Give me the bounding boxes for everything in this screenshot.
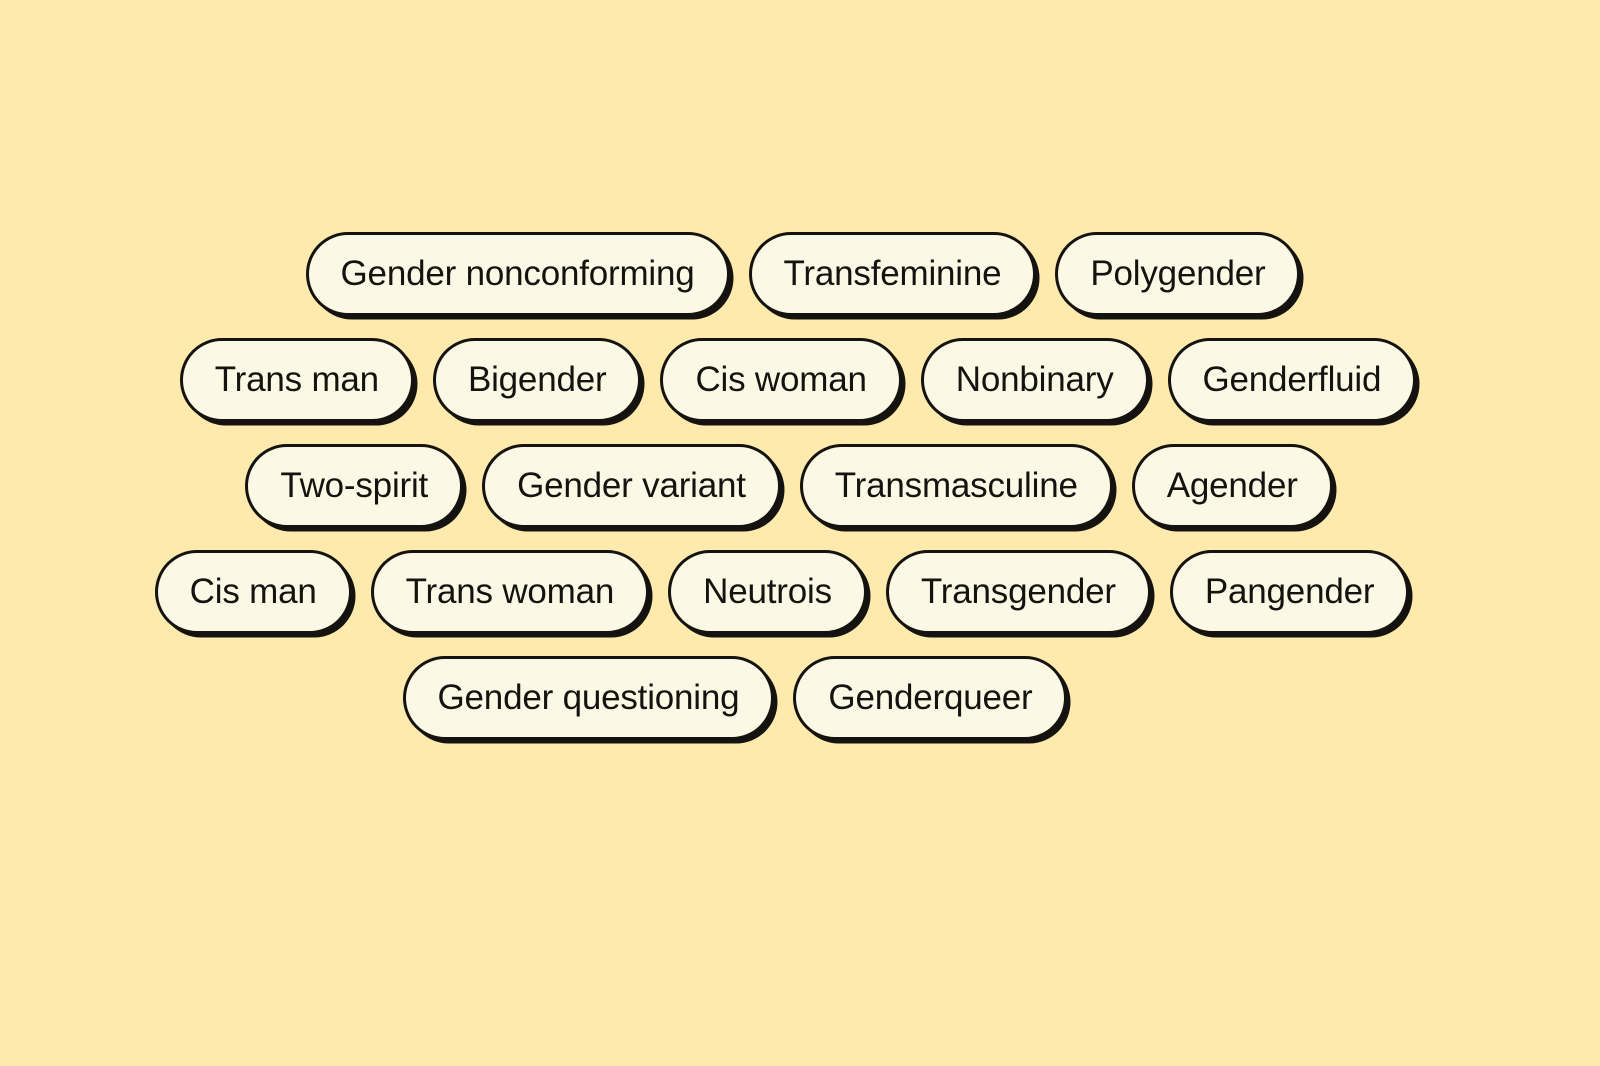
tag-label: Genderfluid — [1203, 362, 1382, 397]
tag-label: Bigender — [468, 362, 607, 397]
tag-label: Gender variant — [517, 468, 746, 503]
tag-label: Genderqueer — [828, 680, 1032, 715]
tag-label: Agender — [1167, 468, 1298, 503]
tag-label: Trans woman — [406, 574, 615, 609]
tag-label: Trans man — [215, 362, 379, 397]
tag-pill-gender-questioning[interactable]: Gender questioning — [403, 656, 775, 740]
tag-pill-bigender[interactable]: Bigender — [433, 338, 642, 422]
tag-row-4: Cis man Trans woman Neutrois Transgender… — [155, 550, 1410, 634]
tag-pill-gender-variant[interactable]: Gender variant — [482, 444, 781, 528]
tag-label: Pangender — [1205, 574, 1374, 609]
tag-pill-pangender[interactable]: Pangender — [1170, 550, 1409, 634]
tag-label: Gender nonconforming — [341, 256, 695, 291]
tag-pill-agender[interactable]: Agender — [1132, 444, 1333, 528]
tag-pill-cis-man[interactable]: Cis man — [155, 550, 352, 634]
tag-rows-container: Gender nonconforming Transfeminine Polyg… — [0, 232, 1600, 762]
tag-label: Neutrois — [703, 574, 832, 609]
tag-pill-gender-nonconforming[interactable]: Gender nonconforming — [306, 232, 730, 316]
tag-pill-transmasculine[interactable]: Transmasculine — [800, 444, 1113, 528]
tag-pill-transgender[interactable]: Transgender — [886, 550, 1151, 634]
tag-label: Transgender — [921, 574, 1116, 609]
gender-identity-tag-cloud: Gender nonconforming Transfeminine Polyg… — [0, 0, 1600, 1066]
tag-label: Gender questioning — [438, 680, 740, 715]
tag-pill-trans-woman[interactable]: Trans woman — [371, 550, 650, 634]
tag-pill-genderfluid[interactable]: Genderfluid — [1168, 338, 1417, 422]
tag-row-1: Gender nonconforming Transfeminine Polyg… — [306, 232, 1301, 316]
tag-pill-polygender[interactable]: Polygender — [1055, 232, 1300, 316]
tag-pill-transfeminine[interactable]: Transfeminine — [749, 232, 1037, 316]
tag-label: Cis man — [190, 574, 317, 609]
tag-row-5: Gender questioning Genderqueer — [403, 656, 1068, 740]
tag-pill-two-spirit[interactable]: Two-spirit — [245, 444, 463, 528]
tag-pill-nonbinary[interactable]: Nonbinary — [921, 338, 1149, 422]
tag-row-3: Two-spirit Gender variant Transmasculine… — [245, 444, 1332, 528]
tag-label: Two-spirit — [280, 468, 428, 503]
tag-pill-genderqueer[interactable]: Genderqueer — [793, 656, 1067, 740]
tag-label: Transmasculine — [835, 468, 1078, 503]
tag-label: Cis woman — [695, 362, 866, 397]
tag-pill-trans-man[interactable]: Trans man — [180, 338, 414, 422]
tag-label: Nonbinary — [956, 362, 1114, 397]
tag-label: Polygender — [1090, 256, 1265, 291]
tag-pill-neutrois[interactable]: Neutrois — [668, 550, 867, 634]
tag-row-2: Trans man Bigender Cis woman Nonbinary G… — [180, 338, 1417, 422]
tag-pill-cis-woman[interactable]: Cis woman — [660, 338, 901, 422]
tag-label: Transfeminine — [784, 256, 1002, 291]
